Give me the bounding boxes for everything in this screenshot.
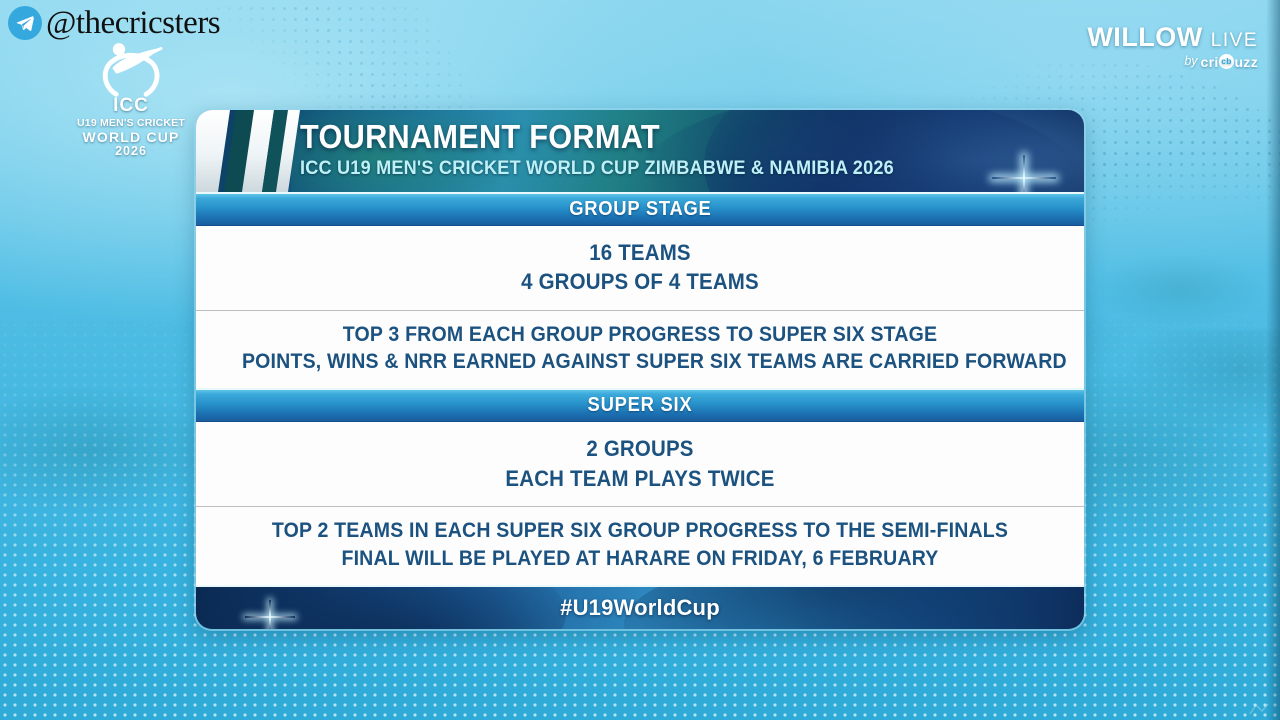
group-stage-teams-row: 16 TEAMS 4 GROUPS OF 4 TEAMS — [196, 226, 1084, 310]
row-line: 16 TEAMS — [242, 238, 1038, 267]
tournament-format-card: TOURNAMENT FORMAT ICC U19 MEN'S CRICKET … — [196, 110, 1084, 629]
broadcaster-logo: WILLOW LIVE by cri cb uzz — [1087, 24, 1258, 69]
row-line: FINAL WILL BE PLAYED AT HARARE ON FRIDAY… — [242, 545, 1038, 573]
card-footer: #U19WorldCup — [196, 585, 1084, 629]
header-text-block: TOURNAMENT FORMAT ICC U19 MEN'S CRICKET … — [300, 120, 1066, 179]
icc-worldcup-label: WORLD CUP — [72, 130, 190, 145]
section-bar-super-six: SUPER SIX — [196, 388, 1084, 422]
icc-batsman-icon — [75, 40, 187, 98]
super-six-groups-row: 2 GROUPS EACH TEAM PLAYS TWICE — [196, 422, 1084, 506]
willow-wordmark: WILLOW — [1087, 24, 1202, 51]
telegram-watermark: @thecricsters — [8, 6, 220, 40]
section-bar-label: GROUP STAGE — [569, 198, 711, 221]
footer-swoosh-left — [196, 585, 566, 629]
row-line: 2 GROUPS — [242, 434, 1038, 463]
icc-u19-world-cup-logo: ICC U19 MEN'S CRICKET WORLD CUP 2026 — [72, 40, 190, 159]
by-label: by — [1184, 55, 1197, 68]
row-line: TOP 2 TEAMS IN EACH SUPER SIX GROUP PROG… — [242, 517, 1038, 545]
hashtag-label: #U19WorldCup — [560, 595, 720, 621]
row-line: EACH TEAM PLAYS TWICE — [242, 464, 1038, 493]
cricbuzz-circle-icon: cb — [1219, 54, 1234, 69]
row-line: 4 GROUPS OF 4 TEAMS — [242, 267, 1038, 296]
icc-label: ICC — [72, 96, 190, 115]
cricbuzz-prefix: cri — [1201, 55, 1219, 69]
icc-event-label: U19 MEN'S CRICKET — [72, 117, 190, 129]
card-subtitle: ICC U19 MEN'S CRICKET WORLD CUP ZIMBABWE… — [300, 158, 1012, 179]
card-header: TOURNAMENT FORMAT ICC U19 MEN'S CRICKET … — [196, 110, 1084, 192]
row-line: TOP 3 FROM EACH GROUP PROGRESS TO SUPER … — [242, 321, 1038, 349]
willow-row: WILLOW LIVE — [1087, 24, 1258, 51]
card-title: TOURNAMENT FORMAT — [300, 120, 1012, 155]
group-stage-progression-row: TOP 3 FROM EACH GROUP PROGRESS TO SUPER … — [196, 310, 1084, 389]
icc-year-label: 2026 — [72, 145, 190, 159]
section-bar-group-stage: GROUP STAGE — [196, 192, 1084, 226]
row-line: POINTS, WINS & NRR EARNED AGAINST SUPER … — [242, 348, 1038, 376]
super-six-progression-row: TOP 2 TEAMS IN EACH SUPER SIX GROUP PROG… — [196, 506, 1084, 585]
cricbuzz-attribution: by cri cb uzz — [1087, 54, 1258, 69]
telegram-handle: @thecricsters — [46, 7, 220, 40]
cricbuzz-suffix: uzz — [1235, 55, 1258, 69]
live-badge: LIVE — [1211, 31, 1258, 50]
header-stripe-graphic — [196, 110, 306, 192]
corner-mark-icon — [1248, 702, 1270, 716]
section-bar-label: SUPER SIX — [588, 394, 693, 417]
cricbuzz-wordmark: cri cb uzz — [1201, 54, 1258, 69]
right-edge-vignette — [1266, 0, 1280, 720]
telegram-icon — [8, 6, 42, 40]
footer-lens-flare-icon — [268, 616, 271, 619]
